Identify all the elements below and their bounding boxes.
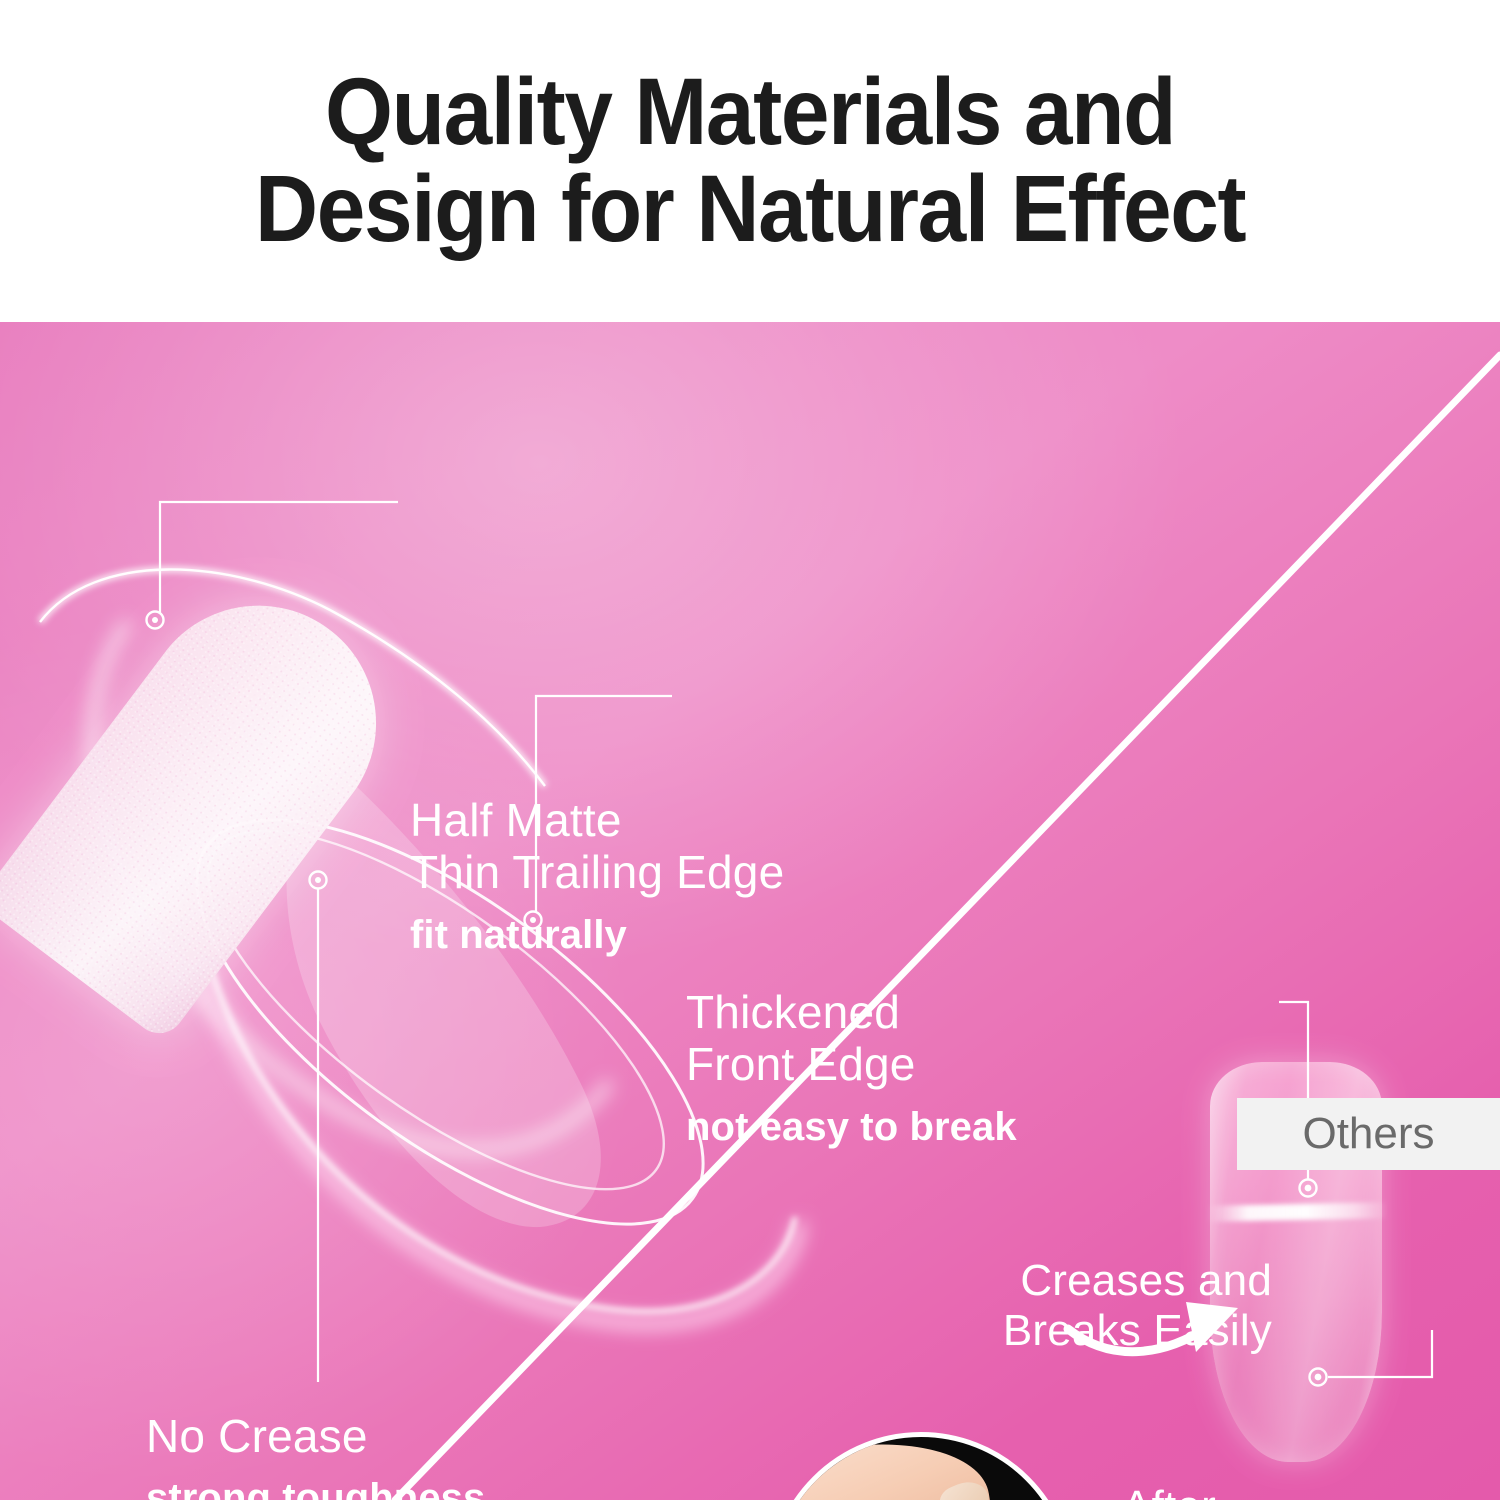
callout-thickened-line1: Thickened	[686, 986, 1017, 1038]
callout-thickened-front-edge: Thickened Front Edge not easy to break	[686, 986, 1017, 1150]
callout-half-matte: Half Matte Thin Trailing Edge fit natura…	[410, 794, 784, 958]
marker-dot-no-crease	[310, 872, 327, 889]
leader-half-matte	[160, 502, 398, 614]
callout-half-matte-sub: fit naturally	[410, 913, 784, 958]
modelones-nail-image	[90, 472, 730, 1172]
callout-no-crease-sub: strong toughness	[146, 1476, 485, 1500]
bend-demo-photo-inset	[768, 1432, 1074, 1500]
infographic-page: Quality Materials and Design for Natural…	[0, 0, 1500, 1500]
callout-no-crease: No Crease strong toughness	[146, 1410, 485, 1500]
comparison-panel: Half Matte Thin Trailing Edge fit natura…	[0, 322, 1500, 1500]
callout-after-bend: After Bend	[1096, 1482, 1216, 1500]
callout-thickened-line2: Front Edge	[686, 1038, 1017, 1090]
header-banner: Quality Materials and Design for Natural…	[0, 0, 1500, 322]
callout-no-crease-line1: No Crease	[146, 1410, 485, 1462]
marker-dot-thickened-edge	[525, 912, 542, 929]
modelones-nail-tip-shape	[0, 559, 423, 1044]
after-bend-arrow	[1068, 1327, 1208, 1352]
callout-half-matte-line2: Thin Trailing Edge	[410, 846, 784, 898]
leader-thickened-edge	[536, 696, 672, 912]
callout-half-matte-line1: Half Matte	[410, 794, 784, 846]
competitor-badge-label: Others	[1302, 1109, 1434, 1159]
callout-after-bend-line1: After	[1096, 1482, 1216, 1500]
callout-thickened-sub: not easy to break	[686, 1105, 1017, 1150]
marker-dot-half-matte	[147, 612, 164, 629]
page-title-line1: Quality Materials and	[325, 64, 1175, 161]
page-title-line2: Design for Natural Effect	[255, 161, 1245, 258]
competitor-badge-others: Others	[1237, 1098, 1500, 1170]
